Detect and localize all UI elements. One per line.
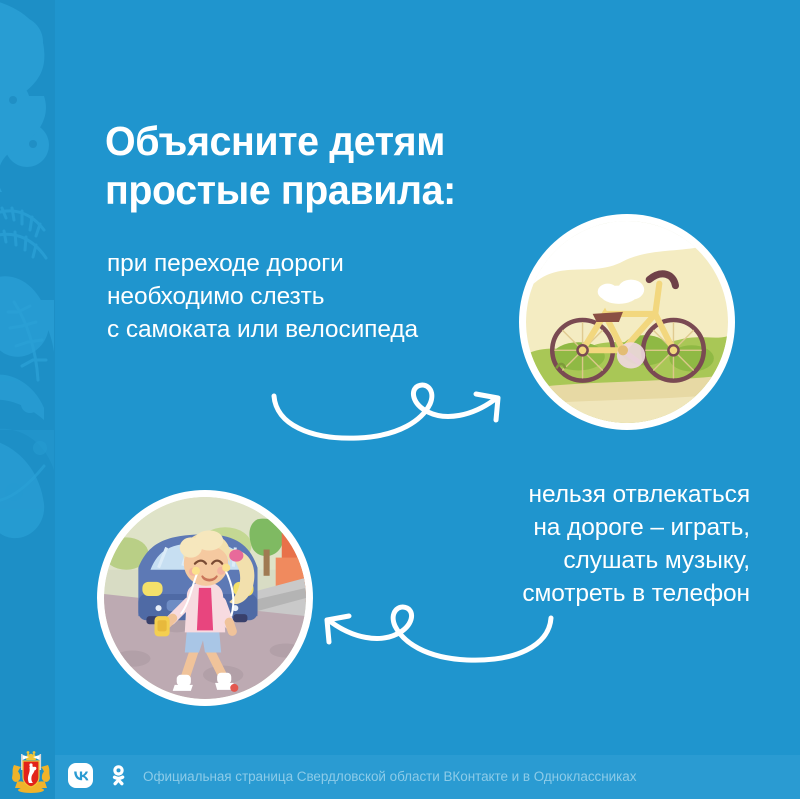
page-title: Объясните детям простые правила: [105, 117, 643, 215]
ok-icon[interactable] [106, 763, 131, 788]
khokhloma-pattern-icon [0, 0, 55, 799]
sverdlovsk-coat-of-arms-icon [11, 749, 51, 793]
poster-root: Объясните детям простые правила: при пер… [0, 0, 800, 799]
girl-crossing-illustration [97, 490, 313, 706]
decorative-left-strip [0, 0, 55, 799]
rule-text-dismount: при переходе дороги необходимо слезть с … [107, 247, 527, 346]
curved-arrow-left-icon [303, 600, 563, 670]
bicycle-illustration [519, 214, 735, 430]
curved-arrow-right-icon [262, 378, 522, 448]
vk-icon[interactable] [68, 763, 93, 788]
social-links[interactable] [68, 763, 131, 788]
footer-caption: Официальная страница Свердловской област… [143, 769, 636, 784]
rule-text-no-distraction: нельзя отвлекаться на дороге – играть, с… [420, 478, 750, 610]
arrow-to-girl [303, 600, 563, 670]
arrow-to-bicycle [262, 378, 522, 448]
